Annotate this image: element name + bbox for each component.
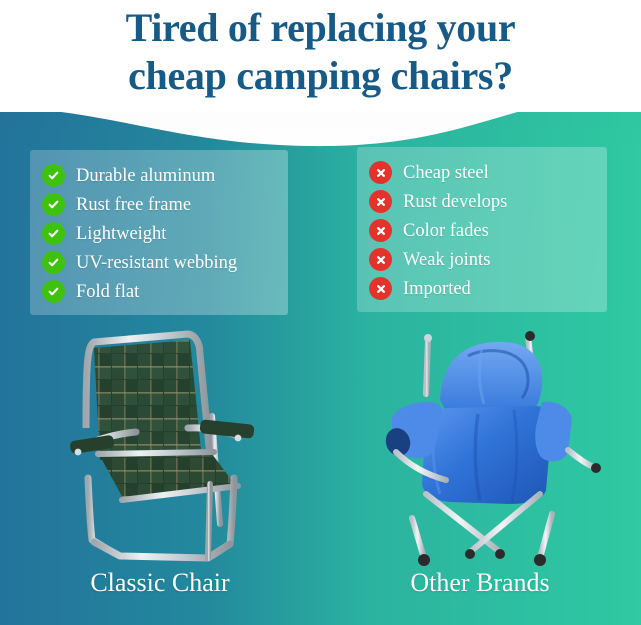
check-circle-icon [42, 193, 65, 216]
list-item: Rust develops [369, 187, 595, 216]
list-item: UV-resistant webbing [42, 248, 276, 277]
x-circle-icon [369, 190, 392, 213]
infographic-root: Tired of replacing your cheap camping ch… [0, 0, 641, 625]
list-item-label: Color fades [403, 221, 489, 241]
x-circle-icon [369, 219, 392, 242]
page-title: Tired of replacing your cheap camping ch… [21, 4, 621, 100]
check-circle-icon [42, 251, 65, 274]
list-item-label: Imported [403, 279, 471, 299]
list-item: Cheap steel [369, 158, 595, 187]
pros-list: Durable aluminum Rust free frame Lightwe… [42, 161, 276, 306]
x-circle-icon [369, 277, 392, 300]
list-item-label: Fold flat [76, 282, 139, 302]
pros-panel: Durable aluminum Rust free frame Lightwe… [30, 150, 288, 315]
list-item: Weak joints [369, 245, 595, 274]
list-item-label: Weak joints [403, 250, 490, 270]
header: Tired of replacing your cheap camping ch… [0, 0, 641, 112]
list-item-label: Rust develops [403, 192, 507, 212]
classic-chair-caption: Classic Chair [0, 568, 320, 598]
list-item-label: Lightweight [76, 224, 166, 244]
list-item: Durable aluminum [42, 161, 276, 190]
x-circle-icon [369, 248, 392, 271]
list-item-label: Rust free frame [76, 195, 191, 215]
check-circle-icon [42, 164, 65, 187]
list-item-label: Durable aluminum [76, 166, 215, 186]
list-item: Lightweight [42, 219, 276, 248]
other-brand-chair-image [382, 322, 610, 570]
list-item: Fold flat [42, 277, 276, 306]
list-item-label: UV-resistant webbing [76, 253, 237, 273]
cons-panel: Cheap steel Rust develops Color fades [357, 147, 607, 312]
list-item: Rust free frame [42, 190, 276, 219]
cons-list: Cheap steel Rust develops Color fades [369, 158, 595, 303]
headline-line-1: Tired of replacing your [21, 4, 621, 52]
headline-line-2: cheap camping chairs? [21, 52, 621, 100]
check-circle-icon [42, 222, 65, 245]
list-item-label: Cheap steel [403, 163, 489, 183]
list-item: Color fades [369, 216, 595, 245]
check-circle-icon [42, 280, 65, 303]
list-item: Imported [369, 274, 595, 303]
other-brands-caption: Other Brands [330, 568, 630, 598]
x-circle-icon [369, 161, 392, 184]
classic-chair-image [60, 328, 280, 568]
